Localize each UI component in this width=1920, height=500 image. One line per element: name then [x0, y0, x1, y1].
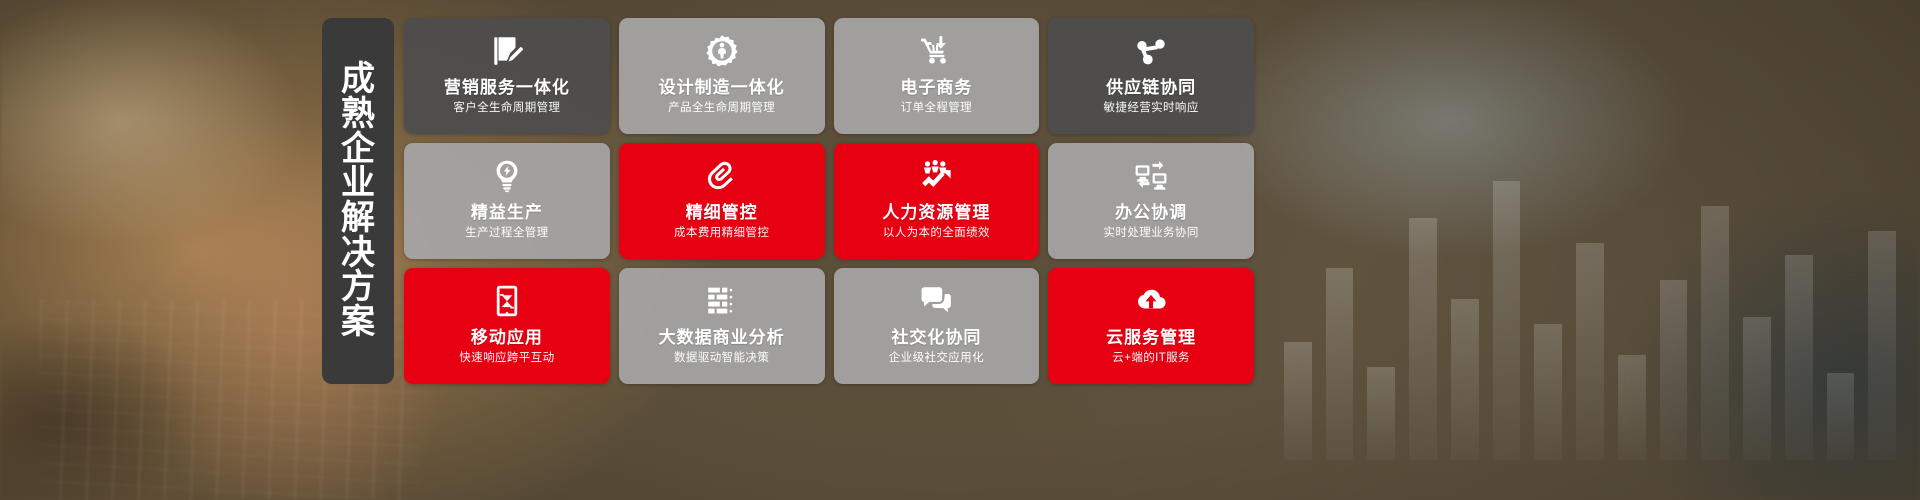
- solution-card-subtitle: 成本费用精细管控: [674, 227, 769, 241]
- solution-card-5[interactable]: 精益生产生产过程全管理: [404, 143, 610, 259]
- shopping-cart-download-icon: [919, 34, 953, 68]
- solution-card-title: 社交化协同: [891, 328, 981, 348]
- solution-card-subtitle: 快速响应跨平互动: [459, 352, 554, 366]
- solution-card-subtitle: 实时处理业务协同: [1104, 227, 1199, 241]
- banner-char-4: 解: [341, 201, 375, 236]
- people-growth-chart-icon: [919, 159, 953, 193]
- solutions-grid: 营销服务一体化客户全生命周期管理设计制造一体化产品全生命周期管理电子商务订单全程…: [404, 18, 1254, 384]
- banner-char-7: 案: [341, 305, 375, 340]
- screens-sync-icon: [1134, 159, 1168, 193]
- database-stack-icon: [705, 284, 739, 318]
- solution-card-2[interactable]: 设计制造一体化产品全生命周期管理: [619, 18, 825, 134]
- solution-card-title: 营销服务一体化: [444, 78, 570, 98]
- solution-card-9[interactable]: 移动应用快速响应跨平互动: [404, 268, 610, 384]
- solution-card-3[interactable]: 电子商务订单全程管理: [834, 18, 1040, 134]
- banner-char-0: 成: [341, 62, 375, 97]
- solution-card-7[interactable]: 人力资源管理以人为本的全面绩效: [834, 143, 1040, 259]
- section-title-banner: 成熟企业解决方案: [322, 18, 394, 384]
- solution-card-subtitle: 云+端的IT服务: [1112, 352, 1190, 366]
- solution-card-12[interactable]: 云服务管理云+端的IT服务: [1048, 268, 1254, 384]
- solutions-panel: 成熟企业解决方案 营销服务一体化客户全生命周期管理设计制造一体化产品全生命周期管…: [322, 18, 1254, 384]
- solution-card-subtitle: 企业级社交应用化: [889, 352, 984, 366]
- banner-char-3: 业: [341, 166, 375, 201]
- solution-card-title: 人力资源管理: [882, 203, 990, 223]
- solution-card-title: 大数据商业分析: [659, 328, 785, 348]
- gear-person-icon: [705, 34, 739, 68]
- solution-card-8[interactable]: 办公协调实时处理业务协同: [1048, 143, 1254, 259]
- cloud-upload-icon: [1134, 284, 1168, 318]
- chat-bubbles-icon: [919, 284, 953, 318]
- solution-card-subtitle: 数据驱动智能决策: [674, 352, 769, 366]
- solution-card-title: 办公协调: [1115, 203, 1187, 223]
- solution-card-title: 设计制造一体化: [659, 78, 785, 98]
- paperclip-link-icon: [705, 159, 739, 193]
- solution-card-subtitle: 产品全生命周期管理: [668, 102, 775, 116]
- solution-card-subtitle: 敏捷经营实时响应: [1104, 102, 1199, 116]
- solution-card-title: 精益生产: [471, 203, 543, 223]
- solution-card-title: 电子商务: [900, 78, 972, 98]
- solution-card-subtitle: 以人为本的全面绩效: [883, 227, 990, 241]
- solution-card-10[interactable]: 大数据商业分析数据驱动智能决策: [619, 268, 825, 384]
- solution-card-4[interactable]: 供应链协同敏捷经营实时响应: [1048, 18, 1254, 134]
- note-pencil-icon: [490, 34, 524, 68]
- mobile-phone-icon: [490, 284, 524, 318]
- share-network-icon: [1134, 34, 1168, 68]
- solution-card-title: 云服务管理: [1106, 328, 1196, 348]
- banner-char-5: 决: [341, 236, 375, 271]
- solution-card-11[interactable]: 社交化协同企业级社交应用化: [834, 268, 1040, 384]
- solution-card-1[interactable]: 营销服务一体化客户全生命周期管理: [404, 18, 610, 134]
- solution-card-subtitle: 客户全生命周期管理: [453, 102, 560, 116]
- hero-banner: 成熟企业解决方案 营销服务一体化客户全生命周期管理设计制造一体化产品全生命周期管…: [0, 0, 1920, 500]
- solution-card-subtitle: 生产过程全管理: [465, 227, 548, 241]
- banner-char-2: 企: [341, 132, 375, 167]
- solution-card-title: 供应链协同: [1106, 78, 1196, 98]
- banner-char-6: 方: [341, 270, 375, 305]
- solution-card-title: 移动应用: [471, 328, 543, 348]
- banner-char-1: 熟: [341, 97, 375, 132]
- solution-card-6[interactable]: 精细管控成本费用精细管控: [619, 143, 825, 259]
- solution-card-title: 精细管控: [686, 203, 758, 223]
- lightbulb-bolt-icon: [490, 159, 524, 193]
- solution-card-subtitle: 订单全程管理: [901, 102, 972, 116]
